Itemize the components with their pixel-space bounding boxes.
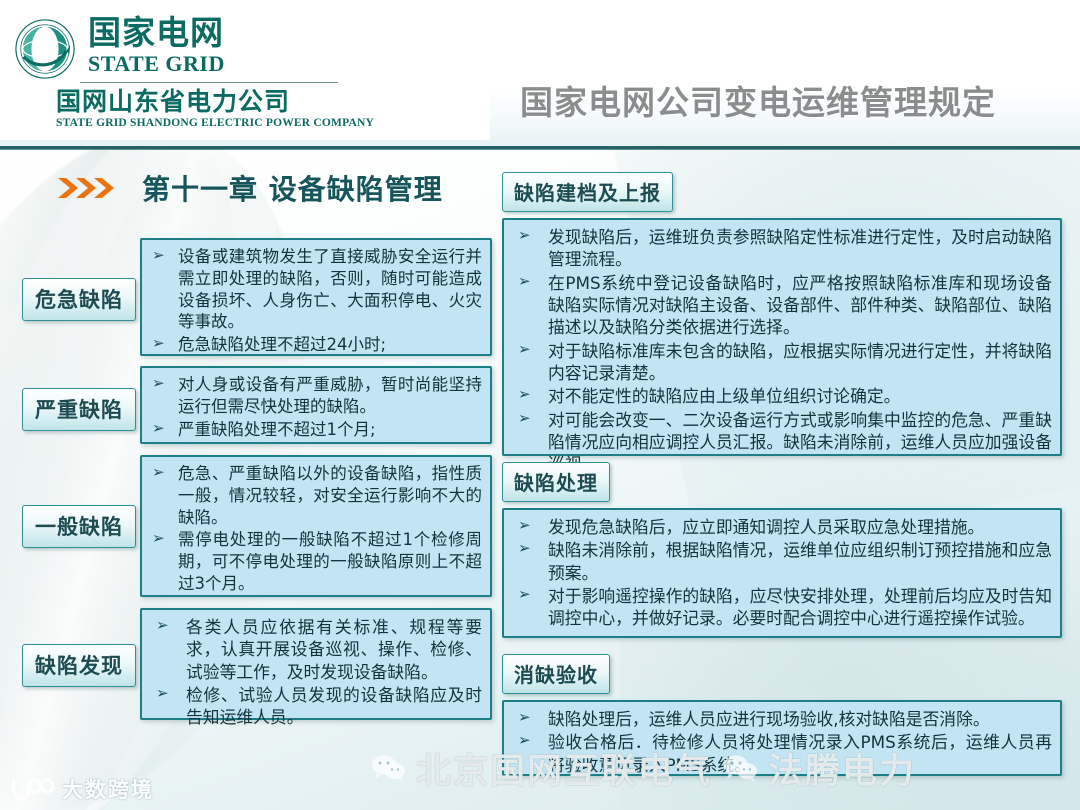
provincial-company-en: STATE GRID SHANDONG ELECTRIC POWER COMPA…: [56, 117, 374, 129]
state-grid-globe-icon: [14, 18, 76, 80]
list-item-text: 设备或建筑物发生了直接威胁安全运行并需立即处理的缺陷，否则，随时可能造成设备损坏…: [178, 247, 482, 331]
list-item: ➢需停电处理的一般缺陷不超过1个检修周期，可不停电处理的一般缺陷原则上不超过3个…: [148, 529, 482, 594]
tag-text: 缺陷发现: [22, 644, 136, 687]
list-item-text: 验收合格后．待检修人员将处理情况录入PMS系统后，运维人员再将验收意见录入PMS…: [548, 732, 1052, 774]
list-item: ➢发现危急缺陷后，应立即通知调控人员采取应急处理措施。: [510, 516, 1052, 538]
label-defect-acceptance: 消缺验收: [502, 654, 610, 694]
bullet-marker-icon: ➢: [152, 419, 165, 439]
list-item: ➢对人身或设备有严重威胁，暂时尚能坚持运行但需尽快处理的缺陷。: [148, 374, 482, 418]
bullet-list: ➢危急、严重缺陷以外的设备缺陷，指性质一般，情况较轻，对安全运行影响不大的缺陷。…: [148, 463, 482, 595]
tag-text: 缺陷处理: [502, 462, 610, 502]
list-item: ➢设备或建筑物发生了直接威胁安全运行并需立即处理的缺陷，否则，随时可能造成设备损…: [148, 246, 482, 333]
bullet-marker-icon: ➢: [152, 334, 165, 354]
logo-chinese-name: 国家电网: [88, 16, 225, 51]
header-divider-rule: [0, 146, 1080, 150]
list-item: ➢危急缺陷处理不超过24小时;: [148, 334, 482, 356]
logo-divider: [80, 82, 338, 83]
list-item: ➢在PMS系统中登记设备缺陷时，应严格按照缺陷标准库和现场设备缺陷实际情况对缺陷…: [510, 272, 1052, 339]
label-severe-defect: 严重缺陷: [22, 388, 136, 431]
bullet-list: ➢对人身或设备有严重威胁，暂时尚能坚持运行但需尽快处理的缺陷。 ➢严重缺陷处理不…: [148, 374, 482, 440]
label-defect-filing-report: 缺陷建档及上报: [502, 172, 673, 212]
list-item-text: 缺陷处理后，运维人员应进行现场验收,核对缺陷是否消除。: [548, 709, 990, 729]
box-defect-handling: ➢发现危急缺陷后，应立即通知调控人员采取应急处理措施。 ➢缺陷未消除前，根据缺陷…: [502, 508, 1062, 638]
bullet-marker-icon: ➢: [152, 529, 165, 549]
list-item-text: 发现缺陷后，运维班负责参照缺陷定性标准进行定性，及时启动缺陷管理流程。: [548, 227, 1052, 269]
box-general-defect: ➢危急、严重缺陷以外的设备缺陷，指性质一般，情况较轻，对安全运行影响不大的缺陷。…: [140, 455, 492, 597]
wechat-icon: [370, 753, 406, 783]
list-item: ➢严重缺陷处理不超过1个月;: [148, 419, 482, 441]
box-defect-acceptance: ➢缺陷处理后，运维人员应进行现场验收,核对缺陷是否消除。 ➢验收合格后．待检修人…: [502, 700, 1062, 776]
list-item-text: 危急、严重缺陷以外的设备缺陷，指性质一般，情况较轻，对安全运行影响不大的缺陷。: [178, 464, 482, 527]
list-item-text: 缺陷未消除前，根据缺陷情况，运维单位应组织制订预控措施和应急预案。: [548, 540, 1052, 582]
bullet-marker-icon: ➢: [518, 385, 531, 405]
bullet-list: ➢发现缺陷后，运维班负责参照缺陷定性标准进行定性，及时启动缺陷管理流程。 ➢在P…: [510, 226, 1052, 476]
tag-text: 消缺验收: [502, 654, 610, 694]
bullet-marker-icon: ➢: [518, 516, 531, 536]
box-defect-filing-report: ➢发现缺陷后，运维班负责参照缺陷定性标准进行定性，及时启动缺陷管理流程。 ➢在P…: [502, 218, 1062, 456]
list-item: ➢发现缺陷后，运维班负责参照缺陷定性标准进行定性，及时启动缺陷管理流程。: [510, 226, 1052, 271]
box-defect-discovery: ➢各类人员应依据有关标准、规程等要求，认真开展设备巡视、操作、检修、试验等工作，…: [140, 608, 492, 720]
bullet-marker-icon: ➢: [518, 708, 531, 728]
chapter-heading: 第十一章 设备缺陷管理: [56, 168, 443, 208]
list-item-text: 危急缺陷处理不超过24小时;: [178, 335, 386, 354]
list-item-text: 发现危急缺陷后，应立即通知调控人员采取应急处理措施。: [548, 517, 984, 537]
label-defect-handling: 缺陷处理: [502, 462, 610, 502]
list-item-text: 各类人员应依据有关标准、规程等要求，认真开展设备巡视、操作、检修、试验等工作，及…: [186, 617, 482, 682]
bullet-list: ➢发现危急缺陷后，应立即通知调控人员采取应急处理措施。 ➢缺陷未消除前，根据缺陷…: [510, 516, 1052, 630]
bullet-marker-icon: ➢: [518, 731, 531, 751]
tag-text: 一般缺陷: [22, 505, 136, 548]
bullet-marker-icon: ➢: [152, 374, 165, 394]
list-item-text: 对人身或设备有严重威胁，暂时尚能坚持运行但需尽快处理的缺陷。: [178, 375, 482, 416]
list-item-text: 对于影响遥控操作的缺陷，应尽快安排处理，处理前后均应及时告知调控中心，并做好记录…: [548, 586, 1052, 628]
list-item: ➢对于影响遥控操作的缺陷，应尽快安排处理，处理前后均应及时告知调控中心，并做好记…: [510, 585, 1052, 630]
list-item: ➢验收合格后．待检修人员将处理情况录入PMS系统后，运维人员再将验收意见录入PM…: [510, 731, 1052, 776]
bullet-marker-icon: ➢: [518, 585, 531, 605]
list-item-text: 对于缺陷标准库未包含的缺陷，应根据实际情况进行定性，并将缺陷内容记录清楚。: [548, 341, 1052, 383]
list-item: ➢缺陷未消除前，根据缺陷情况，运维单位应组织制订预控措施和应急预案。: [510, 539, 1052, 584]
bullet-marker-icon: ➢: [152, 463, 165, 483]
list-item-text: 对不能定性的缺陷应由上级单位组织讨论确定。: [548, 386, 900, 406]
dashukuajing-logo-icon: [10, 776, 54, 802]
list-item: ➢对不能定性的缺陷应由上级单位组织讨论确定。: [510, 385, 1052, 407]
label-general-defect: 一般缺陷: [22, 505, 136, 548]
box-urgent-defect: ➢设备或建筑物发生了直接威胁安全运行并需立即处理的缺陷，否则，随时可能造成设备损…: [140, 238, 492, 356]
tag-text: 危急缺陷: [22, 278, 136, 321]
list-item-text: 需停电处理的一般缺陷不超过1个检修周期，可不停电处理的一般缺陷原则上不超过3个月…: [178, 530, 482, 593]
state-grid-logo: 国家电网 STATE GRID: [14, 16, 225, 80]
chapter-title-text: 第十一章 设备缺陷管理: [142, 168, 443, 208]
bottom-left-watermark: 大数跨境: [10, 774, 154, 804]
tag-text: 缺陷建档及上报: [502, 172, 673, 212]
bullet-list: ➢设备或建筑物发生了直接威胁安全运行并需立即处理的缺陷，否则，随时可能造成设备损…: [148, 246, 482, 356]
logo-english-name: STATE GRID: [88, 52, 225, 76]
slide-header: 国家电网 STATE GRID 国网山东省电力公司 STATE GRID SHA…: [0, 0, 1080, 148]
list-item: ➢对于缺陷标准库未包含的缺陷，应根据实际情况进行定性，并将缺陷内容记录清楚。: [510, 340, 1052, 385]
page-title: 国家电网公司变电运维管理规定: [520, 76, 1060, 124]
tag-text: 严重缺陷: [22, 388, 136, 431]
list-item-text: 在PMS系统中登记设备缺陷时，应严格按照缺陷标准库和现场设备缺陷实际情况对缺陷主…: [548, 273, 1052, 338]
list-item: ➢缺陷处理后，运维人员应进行现场验收,核对缺陷是否消除。: [510, 708, 1052, 730]
list-item-text: 严重缺陷处理不超过1个月;: [178, 420, 376, 439]
bullet-marker-icon: ➢: [518, 409, 531, 429]
box-severe-defect: ➢对人身或设备有严重威胁，暂时尚能坚持运行但需尽快处理的缺陷。 ➢严重缺陷处理不…: [140, 366, 492, 444]
list-item-text: 对可能会改变一、二次设备运行方式或影响集中监控的危急、严重缺陷情况应向相应调控人…: [548, 410, 1052, 475]
bullet-marker-icon: ➢: [156, 684, 169, 704]
bullet-marker-icon: ➢: [518, 272, 531, 292]
list-item: ➢检修、试验人员发现的设备缺陷应及时告知运维人员。: [148, 684, 482, 729]
label-urgent-defect: 危急缺陷: [22, 278, 136, 321]
bullet-marker-icon: ➢: [152, 246, 165, 266]
bullet-list: ➢缺陷处理后，运维人员应进行现场验收,核对缺陷是否消除。 ➢验收合格后．待检修人…: [510, 708, 1052, 776]
provincial-company-cn: 国网山东省电力公司: [56, 88, 374, 116]
bullet-marker-icon: ➢: [156, 616, 169, 636]
chevron-right-icon: [56, 175, 120, 201]
label-defect-discovery: 缺陷发现: [22, 644, 136, 687]
bottom-left-watermark-text: 大数跨境: [62, 774, 154, 804]
list-item: ➢危急、严重缺陷以外的设备缺陷，指性质一般，情况较轻，对安全运行影响不大的缺陷。: [148, 463, 482, 528]
bullet-marker-icon: ➢: [518, 340, 531, 360]
list-item-text: 检修、试验人员发现的设备缺陷应及时告知运维人员。: [186, 685, 482, 727]
list-item: ➢各类人员应依据有关标准、规程等要求，认真开展设备巡视、操作、检修、试验等工作，…: [148, 616, 482, 683]
bullet-marker-icon: ➢: [518, 226, 531, 246]
bullet-marker-icon: ➢: [518, 539, 531, 559]
provincial-company-block: 国网山东省电力公司 STATE GRID SHANDONG ELECTRIC P…: [56, 88, 374, 129]
slide-canvas: 国家电网 STATE GRID 国网山东省电力公司 STATE GRID SHA…: [0, 0, 1080, 810]
bullet-list: ➢各类人员应依据有关标准、规程等要求，认真开展设备巡视、操作、检修、试验等工作，…: [148, 616, 482, 729]
